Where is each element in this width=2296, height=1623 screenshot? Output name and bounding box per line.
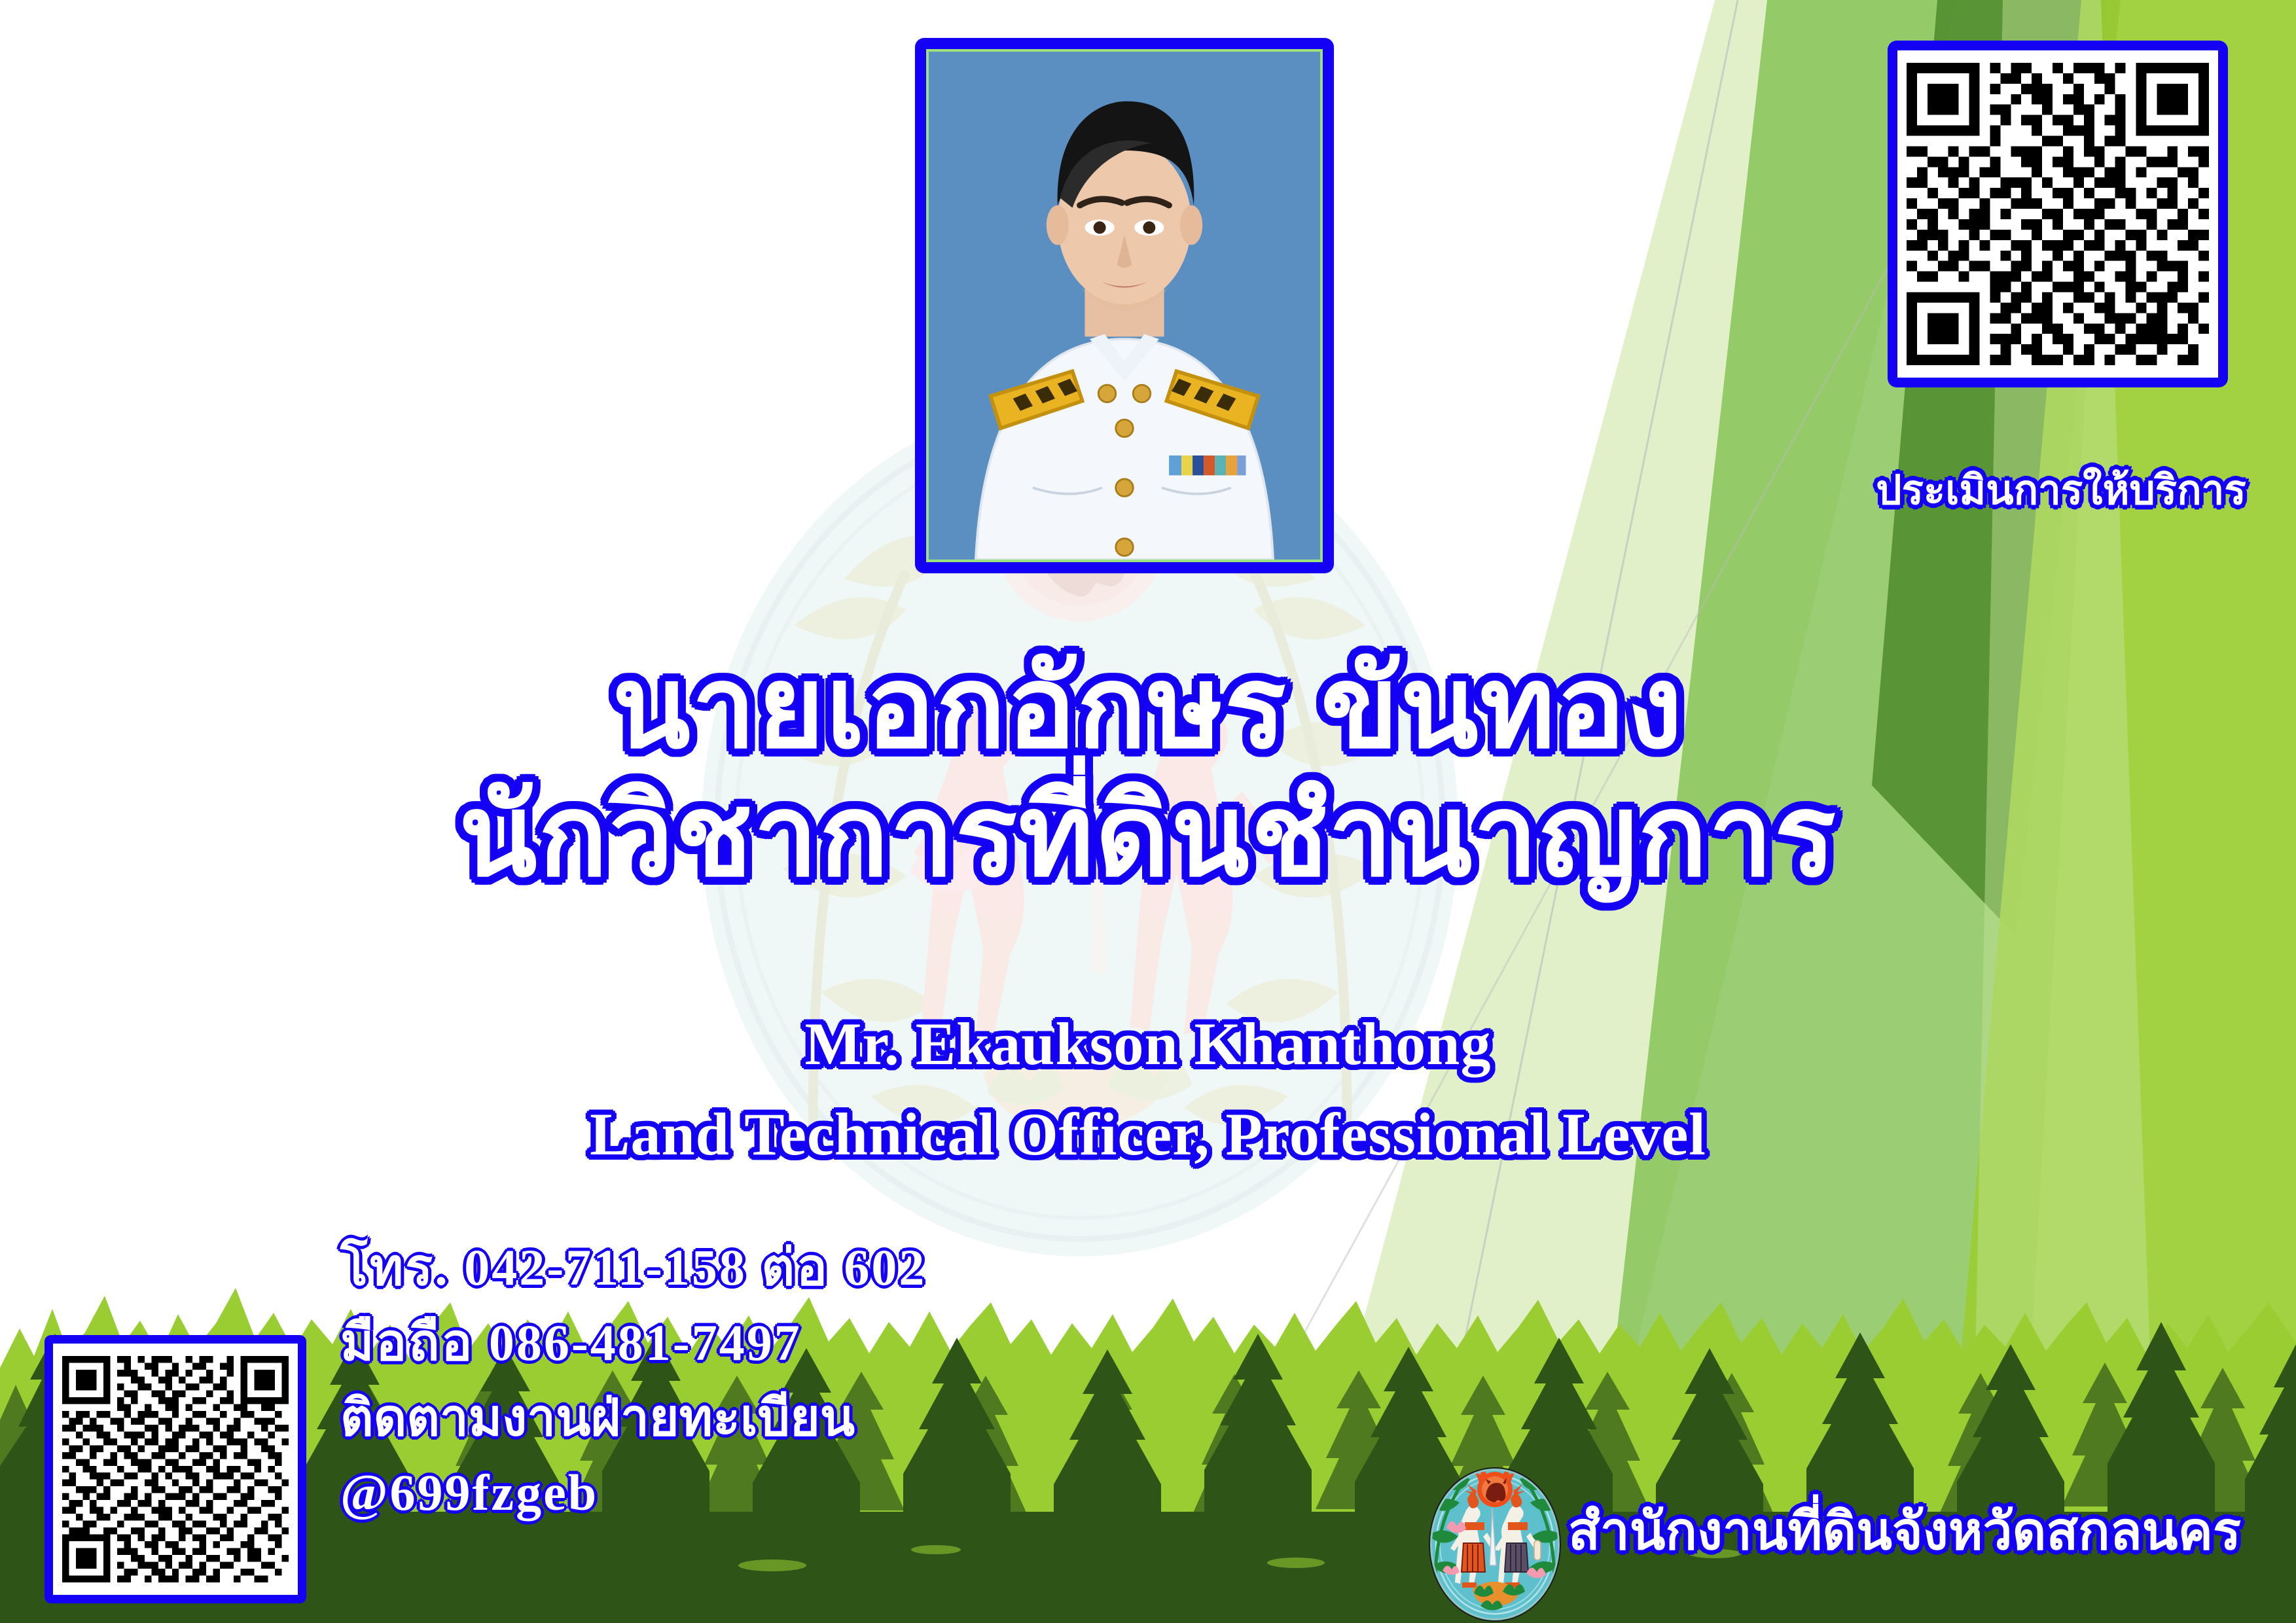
sakon-nakhon-provincial-seal-icon <box>1424 1467 1566 1622</box>
service-evaluation-qr-label: ประเมินการให้บริการ <box>1826 458 2296 522</box>
business-card-poster: ประเมินการให้บริการ นายเอกอักษร ขันทอง น… <box>0 0 2296 1623</box>
service-evaluation-qr-code[interactable] <box>1888 41 2228 387</box>
line-account-qr-code[interactable] <box>45 1335 306 1603</box>
qr-code-icon <box>62 1353 289 1586</box>
officer-position-thai: นักวิชาการที่ดินชำนาญการ <box>0 776 2296 897</box>
officer-position-english: Land Technical Officer, Professional Lev… <box>0 1099 2296 1169</box>
qr-code-icon <box>1907 60 2209 368</box>
officer-portrait-frame <box>915 38 1334 573</box>
line-id: @699fzgeb <box>340 1455 926 1531</box>
office-phone: โทร. 042-711-158 ต่อ 602 <box>340 1230 926 1306</box>
mobile-phone: มือถือ 086-481-7497 <box>340 1306 926 1381</box>
office-name: สำนักงานที่ดินจังหวัดสกลนคร <box>1568 1489 2241 1573</box>
follow-registration-label: ติดตามงานฝ่ายทะเบียน <box>340 1380 926 1455</box>
officer-portrait-photo <box>929 52 1320 560</box>
officer-name-english: Mr. Ekaukson Khanthong <box>0 1009 2296 1079</box>
officer-name-thai: นายเอกอักษร ขันทอง <box>0 648 2296 768</box>
contact-details: โทร. 042-711-158 ต่อ 602 มือถือ 086-481-… <box>340 1230 926 1531</box>
